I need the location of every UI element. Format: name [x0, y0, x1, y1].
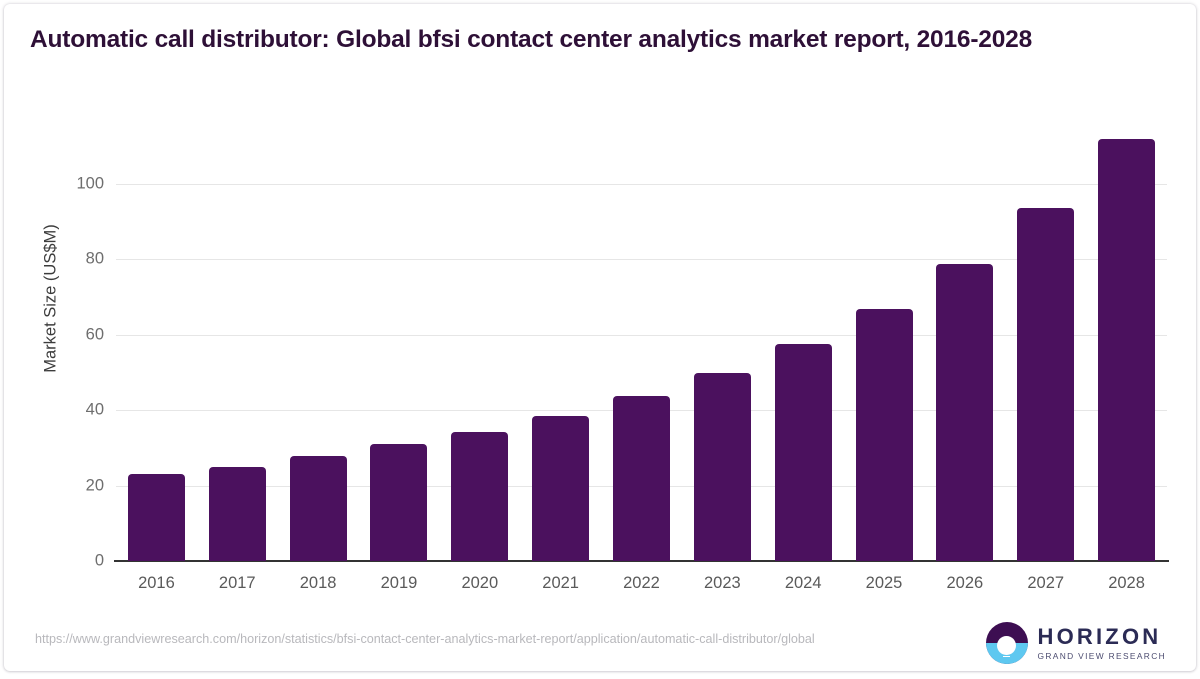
bar-slot: 2023 — [682, 116, 763, 561]
bar[interactable] — [128, 474, 185, 561]
bar-slot: 2025 — [844, 116, 925, 561]
bar[interactable] — [451, 432, 508, 561]
x-axis-tick-label: 2023 — [682, 574, 763, 593]
bar[interactable] — [1017, 208, 1074, 561]
y-axis-tick-label: 20 — [4, 476, 104, 495]
x-axis-tick-label: 2021 — [520, 574, 601, 593]
x-axis-tick-label: 2027 — [1005, 574, 1086, 593]
y-axis-tick-label: 80 — [4, 250, 104, 269]
logo-text: HORIZON GRAND VIEW RESEARCH — [1038, 626, 1167, 660]
chart-plot-wrapper: Market Size (US$M) 020406080100 20162017… — [4, 4, 1196, 671]
plot-area: 020406080100 201620172018201920202021202… — [116, 116, 1167, 561]
bar-slot: 2017 — [197, 116, 278, 561]
bar-slot: 2024 — [763, 116, 844, 561]
y-axis-tick-label: 60 — [4, 325, 104, 344]
y-axis-tick-label: 40 — [4, 401, 104, 420]
bar-slot: 2019 — [359, 116, 440, 561]
logo-ray-2 — [1001, 652, 1012, 654]
bar-slot: 2022 — [601, 116, 682, 561]
bar-slot: 2018 — [278, 116, 359, 561]
logo-ray-3 — [1003, 656, 1010, 658]
x-axis-tick-label: 2017 — [197, 574, 278, 593]
bar[interactable] — [936, 264, 993, 561]
bar-slot: 2016 — [116, 116, 197, 561]
x-axis-tick-label: 2018 — [278, 574, 359, 593]
logo-center-hole — [1000, 637, 1013, 650]
x-axis-tick-label: 2026 — [924, 574, 1005, 593]
bar-slot: 2020 — [439, 116, 520, 561]
x-axis-tick-label: 2028 — [1086, 574, 1167, 593]
x-axis-tick-label: 2024 — [763, 574, 844, 593]
bar[interactable] — [694, 373, 751, 561]
bar-slot: 2028 — [1086, 116, 1167, 561]
logo-name: HORIZON — [1038, 626, 1167, 648]
y-axis-title: Market Size (US$M) — [42, 189, 61, 409]
x-axis-tick-label: 2022 — [601, 574, 682, 593]
bar[interactable] — [1098, 139, 1155, 561]
source-url[interactable]: https://www.grandviewresearch.com/horizo… — [35, 631, 915, 648]
bar[interactable] — [775, 344, 832, 561]
y-axis-tick-label: 100 — [4, 174, 104, 193]
bar[interactable] — [856, 309, 913, 561]
x-axis-tick-label: 2019 — [359, 574, 440, 593]
bar-slot: 2026 — [924, 116, 1005, 561]
bar[interactable] — [613, 396, 670, 561]
bar-series: 2016201720182019202020212022202320242025… — [116, 116, 1167, 561]
bar-slot: 2027 — [1005, 116, 1086, 561]
x-axis-tick-label: 2020 — [439, 574, 520, 593]
horizon-sunset-icon — [986, 622, 1028, 664]
chart-card: Automatic call distributor: Global bfsi … — [4, 4, 1196, 671]
horizon-logo: HORIZON GRAND VIEW RESEARCH — [986, 622, 1167, 664]
logo-tagline: GRAND VIEW RESEARCH — [1038, 652, 1167, 660]
x-axis-tick-label: 2016 — [116, 574, 197, 593]
bar-slot: 2021 — [520, 116, 601, 561]
bar[interactable] — [532, 416, 589, 561]
bar[interactable] — [209, 467, 266, 561]
x-axis-tick-label: 2025 — [844, 574, 925, 593]
y-axis-tick-label: 0 — [4, 552, 104, 571]
bar[interactable] — [290, 456, 347, 561]
bar[interactable] — [370, 444, 427, 561]
